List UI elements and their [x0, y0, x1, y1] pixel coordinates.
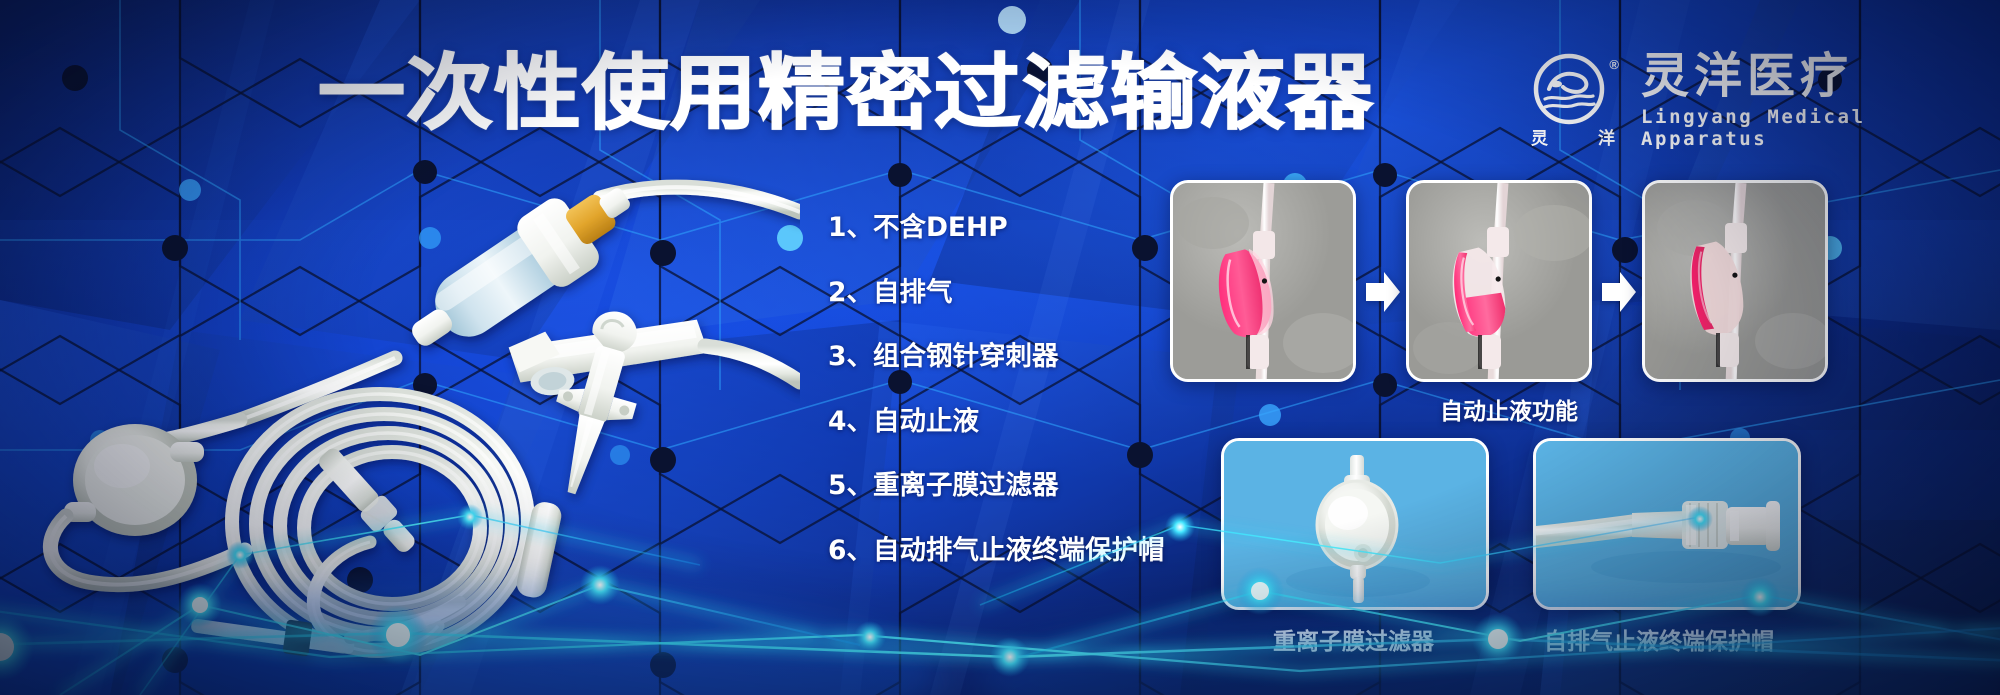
stop-valve-photo-2: [1409, 183, 1592, 382]
logo-mark-icon: ® 灵 洋: [1531, 53, 1615, 149]
brand-name-cn: 灵洋医疗: [1641, 52, 2000, 101]
brand-name-en: Lingyang Medical Apparatus: [1641, 106, 2000, 150]
sequence-frame-1: [1170, 180, 1356, 382]
registered-trademark-icon: ®: [1609, 57, 1619, 72]
logo-sub-right: 洋: [1598, 124, 1615, 149]
sequence-frame-3: [1642, 180, 1828, 382]
background-glow-network: [0, 395, 2000, 695]
banner-root: 一次性使用精密过滤输液器 ® 灵 洋 灵洋医疗 Lingyang Medical…: [0, 0, 2000, 695]
brand-logo: ® 灵 洋 灵洋医疗 Lingyang Medical Apparatus: [1531, 52, 2000, 150]
stop-valve-photo-3: [1645, 183, 1828, 382]
stop-valve-photo-1: [1173, 183, 1356, 382]
logo-circle-icon: [1531, 53, 1615, 127]
logo-sub-left: 灵: [1531, 124, 1548, 149]
sequence-frame-2: [1406, 180, 1592, 382]
arrow-right-icon-2: [1602, 272, 1636, 312]
brand-wordmark: 灵洋医疗 Lingyang Medical Apparatus: [1641, 52, 2000, 150]
page-title: 一次性使用精密过滤输液器: [318, 48, 1374, 140]
arrow-right-icon-1: [1366, 272, 1400, 312]
logo-mark-subtext: 灵 洋: [1531, 124, 1615, 149]
